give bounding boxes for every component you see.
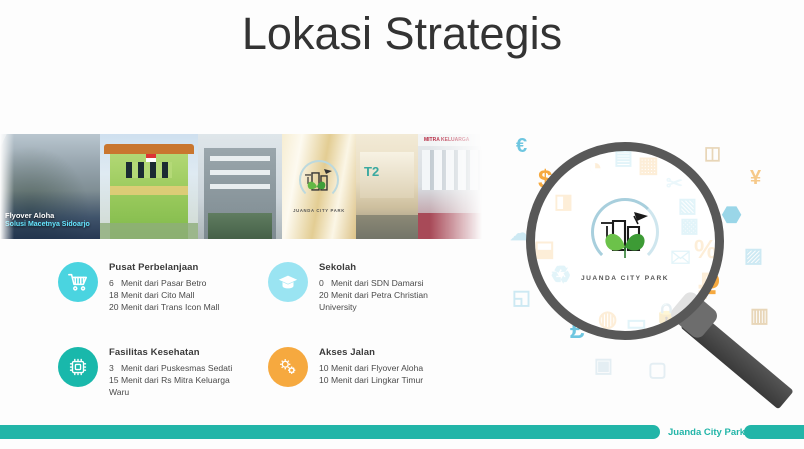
feature-text: Akses Jalan 10 Menit dari Flyover Aloha … — [319, 347, 423, 387]
mall-columns — [422, 150, 482, 190]
feature-lines: 3 Menit dari Puskesmas Sedati 15 Menit d… — [109, 363, 232, 399]
feature-sekolah[interactable]: Sekolah 0 Menit dari SDN Damarsi 20 Meni… — [268, 262, 468, 314]
photo-strip: Flyover Aloha Solusi Macetnya Sidoarjo — [0, 134, 482, 239]
shopping-cart-icon — [58, 262, 98, 302]
facade-greenery — [208, 213, 272, 239]
feature-title: Fasilitas Kesehatan — [109, 347, 232, 358]
scatter-icon: ▢ — [648, 360, 667, 380]
slide-root: Lokasi Strategis Flyover Aloha Solusi Ma… — [0, 0, 804, 449]
magnifier-illustration: $€£¥₽%◔▦▤◨▧▩♻⬓◍▭🔒🖂⬣✂☁▨◱▥▣▢◫ JUANDA CITY … — [498, 128, 804, 428]
brand-logo: JUANDA CITY PARK — [292, 159, 346, 211]
logo-arc — [591, 198, 659, 266]
mall-base — [418, 213, 482, 239]
gears-icon — [268, 347, 308, 387]
feature-akses-jalan[interactable]: Akses Jalan 10 Menit dari Flyover Aloha … — [268, 347, 468, 387]
feature-lines: 0 Menit dari SDN Damarsi 20 Menit dari P… — [319, 278, 428, 314]
photo-facade — [198, 134, 282, 239]
photo-caption: Flyover Aloha Solusi Macetnya Sidoarjo — [5, 212, 90, 229]
footer-bar-left — [0, 425, 660, 439]
page-title: Lokasi Strategis — [0, 8, 804, 60]
building-roof — [104, 144, 194, 154]
flag-icon — [146, 154, 156, 162]
scatter-icon: ◱ — [512, 288, 531, 308]
scatter-icon: ▥ — [750, 306, 769, 326]
feature-text: Fasilitas Kesehatan 3 Menit dari Puskesm… — [109, 347, 232, 399]
scatter-icon: ⬣ — [722, 204, 741, 226]
mall-sign: MITRA KELUARGA — [424, 137, 469, 143]
photo-green-building — [100, 134, 198, 239]
terminal-foreground — [356, 215, 418, 239]
feature-title: Sekolah — [319, 262, 428, 273]
feature-text: Pusat Perbelanjaan 6 Menit dari Pasar Be… — [109, 262, 219, 314]
footer-bar-right — [744, 425, 804, 439]
scatter-icon: € — [516, 136, 527, 156]
logo-wordmark: JUANDA CITY PARK — [293, 207, 345, 212]
scatter-icon: ▣ — [594, 356, 613, 376]
building-base — [100, 223, 198, 239]
photo-logo-panel: JUANDA CITY PARK — [282, 134, 356, 239]
scatter-icon: ▨ — [744, 246, 763, 266]
caption-line-1: Flyover Aloha — [5, 212, 90, 221]
feature-title: Akses Jalan — [319, 347, 423, 358]
photo-hospital-mall: MITRA KELUARGA — [418, 134, 482, 239]
terminal-label: T2 — [364, 164, 379, 179]
building-windows — [126, 162, 172, 178]
facade-floor — [210, 170, 270, 175]
magnifier-brand-logo: JUANDA CITY PARK — [582, 198, 668, 284]
facade-floor — [210, 184, 270, 189]
feature-pusat-perbelanjaan[interactable]: Pusat Perbelanjaan 6 Menit dari Pasar Be… — [58, 262, 258, 314]
photo-flyover-aloha: Flyover Aloha Solusi Macetnya Sidoarjo — [0, 134, 100, 239]
feature-lines: 10 Menit dari Flyover Aloha 10 Menit dar… — [319, 363, 423, 387]
scatter-icon: ¥ — [750, 168, 761, 188]
hospital-chip-icon — [58, 347, 98, 387]
building-signboard — [110, 186, 188, 195]
feature-fasilitas-kesehatan[interactable]: Fasilitas Kesehatan 3 Menit dari Puskesm… — [58, 347, 258, 399]
scatter-icon: ◫ — [704, 144, 721, 162]
graduation-cap-icon — [268, 262, 308, 302]
footer-brand: Juanda City Park — [668, 427, 745, 438]
facade-floor — [210, 156, 270, 161]
caption-line-2: Solusi Macetnya Sidoarjo — [5, 221, 90, 229]
feature-lines: 6 Menit dari Pasar Betro 18 Menit dari C… — [109, 278, 219, 314]
photo-terminal-t2: T2 — [356, 134, 418, 239]
feature-text: Sekolah 0 Menit dari SDN Damarsi 20 Meni… — [319, 262, 428, 314]
logo-wordmark: JUANDA CITY PARK — [581, 275, 669, 282]
feature-title: Pusat Perbelanjaan — [109, 262, 219, 273]
logo-arc — [299, 159, 339, 199]
